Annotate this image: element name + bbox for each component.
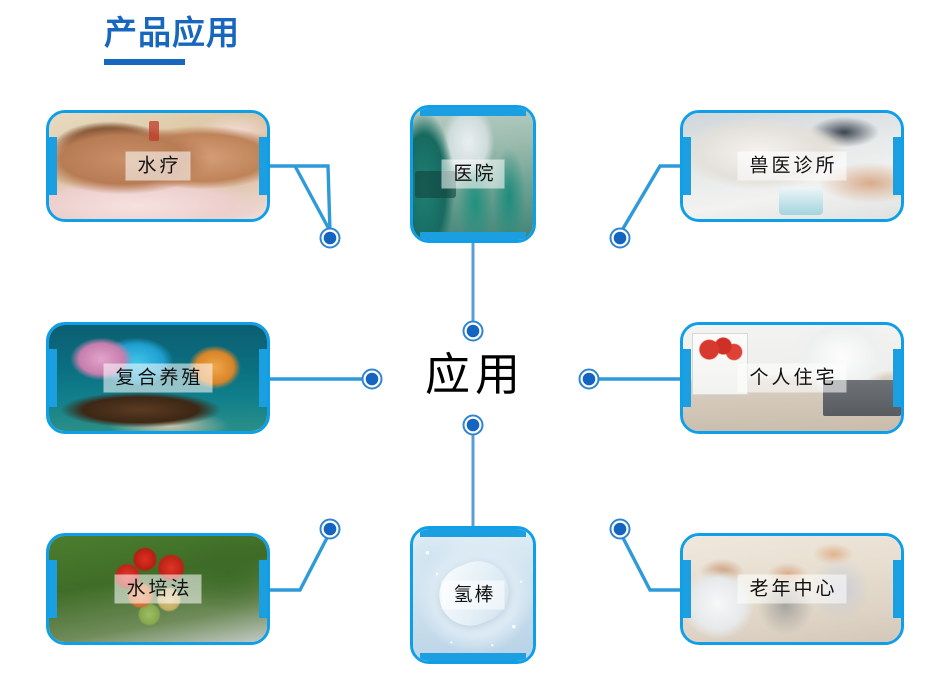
card-label-home: 个人住宅: [737, 364, 846, 393]
card-tab-right-hydroponics: [259, 560, 270, 618]
application-card-vet[interactable]: 兽医诊所: [680, 110, 904, 222]
connector-dot-aqua: [363, 370, 382, 389]
application-card-hydrogen-rod[interactable]: 氢棒: [410, 526, 536, 664]
connector-dot-hospital: [464, 322, 483, 341]
center-hub-label: 应用: [395, 348, 555, 402]
card-tab-left-home: [680, 349, 691, 407]
connector-line-spa: [262, 166, 330, 232]
card-label-senior-center: 老年中心: [737, 575, 846, 604]
connector-line-spa-fix: [262, 166, 330, 232]
card-label-spa: 水疗: [125, 152, 190, 181]
connector-dot-spa: [321, 229, 340, 248]
application-card-aquaculture[interactable]: 复合养殖: [46, 322, 270, 434]
card-tab-left-vet: [680, 137, 691, 195]
card-tab-left-senior-center: [680, 560, 691, 618]
card-label-hospital: 医院: [441, 160, 504, 189]
connector-dot-home: [580, 370, 599, 389]
connector-line-tomato: [262, 534, 329, 590]
card-tab-bottom-hospital: [420, 232, 526, 243]
card-label-aquaculture: 复合养殖: [103, 364, 212, 393]
card-tab-right-vet: [893, 137, 904, 195]
card-tab-right-aquaculture: [259, 349, 270, 407]
application-card-spa[interactable]: 水疗: [46, 110, 270, 222]
connector-dot-vet: [611, 229, 630, 248]
connector-line-senior: [621, 534, 688, 590]
application-card-hydroponics[interactable]: 水培法: [46, 533, 270, 645]
card-label-vet: 兽医诊所: [737, 152, 846, 181]
card-label-hydrogen-rod: 氢棒: [441, 581, 504, 610]
card-tab-right-spa: [259, 137, 270, 195]
card-label-hydroponics: 水培法: [114, 575, 201, 604]
card-tab-bottom-hydrogen-rod: [420, 653, 526, 664]
card-tab-right-senior-center: [893, 560, 904, 618]
connector-diag-spa2: [295, 166, 330, 231]
connector-line-vet: [621, 166, 688, 232]
card-tab-left-hydroponics: [46, 560, 57, 618]
card-tab-top-hospital: [420, 105, 526, 116]
connector-dot-senior: [611, 520, 630, 539]
connector-dot-rod: [464, 416, 483, 435]
card-tab-right-home: [893, 349, 904, 407]
card-tab-top-hydrogen-rod: [420, 526, 526, 537]
application-card-senior-center[interactable]: 老年中心: [680, 533, 904, 645]
application-card-hospital[interactable]: 医院: [410, 105, 536, 243]
card-tab-left-spa: [46, 137, 57, 195]
connector-dot-tomato: [321, 520, 340, 539]
card-tab-left-aquaculture: [46, 349, 57, 407]
application-card-home[interactable]: 个人住宅: [680, 322, 904, 434]
